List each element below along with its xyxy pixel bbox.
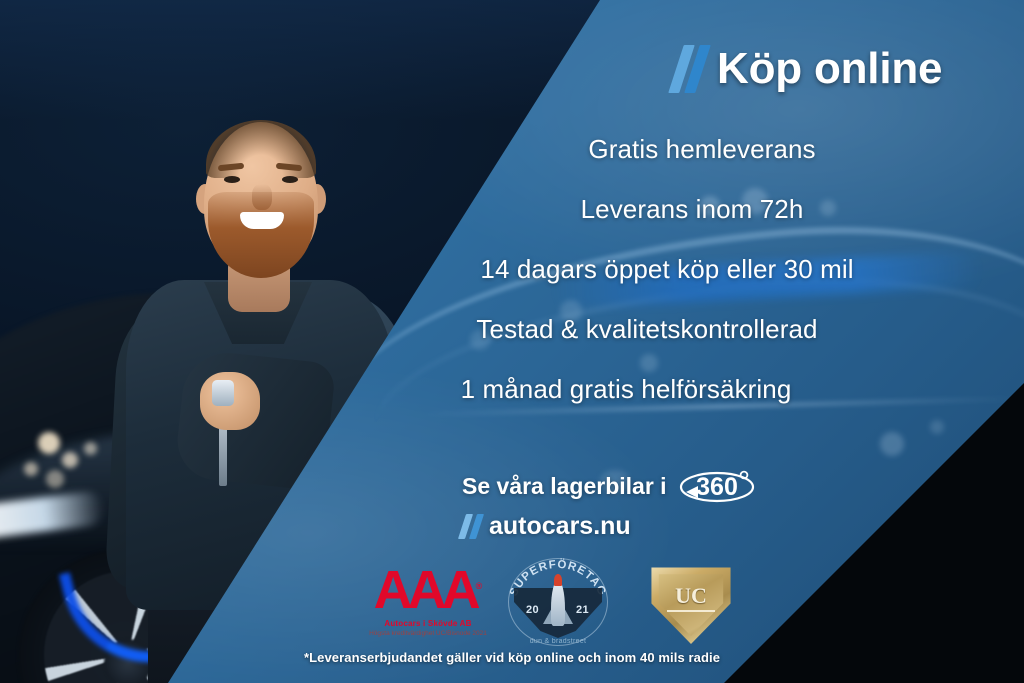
aaa-mark: AAA®	[358, 566, 498, 616]
brand-slashes-icon	[668, 45, 711, 93]
badge-year-prefix: 20	[526, 604, 539, 616]
360-badge-icon: 360	[678, 466, 756, 506]
benefits-list: Gratis hemleverans Leverans inom 72h 14 …	[0, 134, 1024, 434]
page-title: Köp online	[717, 44, 942, 94]
list-item: 1 månad gratis helförsäkring	[0, 374, 1024, 405]
list-item: Gratis hemleverans	[0, 134, 1024, 165]
badge-issuer: dun & bradstreet	[502, 638, 614, 645]
uc-underline	[667, 610, 715, 612]
website-url[interactable]: autocars.nu	[489, 512, 631, 541]
registered-trademark-icon: ®	[476, 581, 483, 591]
cta-lead-text: Se våra lagerbilar i	[462, 473, 667, 500]
superforetag-badge-logo: SUPERFÖRETAG 20 21 dun & bradstreet	[502, 552, 614, 652]
cta-block[interactable]: Se våra lagerbilar i 360 autocars.nu	[462, 466, 756, 541]
certification-logos: AAA® Autocars i Skövde AB Högsta kreditv…	[350, 552, 750, 652]
list-item: Leverans inom 72h	[0, 194, 1024, 225]
uc-mark: UC	[648, 583, 734, 609]
rocket-nose-cone	[554, 574, 562, 586]
ad-banner: Köp online Gratis hemleverans Leverans i…	[0, 0, 1024, 683]
ad-content: Köp online Gratis hemleverans Leverans i…	[0, 0, 1024, 683]
aaa-credit-rating-logo: AAA® Autocars i Skövde AB Högsta kreditv…	[358, 566, 498, 638]
aaa-company-name: Autocars i Skövde AB	[358, 619, 498, 628]
headline-block: Köp online	[676, 44, 942, 94]
aaa-letters: AAA	[374, 560, 476, 620]
aaa-meta-text: Högsta kreditvärdighet UC/Bisnode 2021	[358, 630, 498, 639]
legal-footnote: *Leveranserbjudandet gäller vid köp onli…	[0, 650, 1024, 665]
badge-year-suffix: 21	[576, 604, 589, 616]
list-item: Testad & kvalitetskontrollerad	[0, 314, 1024, 345]
cta-url-row[interactable]: autocars.nu	[462, 512, 756, 541]
brand-slashes-icon-small	[458, 514, 484, 539]
svg-text:360: 360	[696, 473, 738, 501]
list-item: 14 dagars öppet köp eller 30 mil	[0, 254, 1024, 285]
cta-lead-row: Se våra lagerbilar i 360	[462, 466, 756, 506]
uc-shield-logo: UC	[648, 566, 734, 644]
